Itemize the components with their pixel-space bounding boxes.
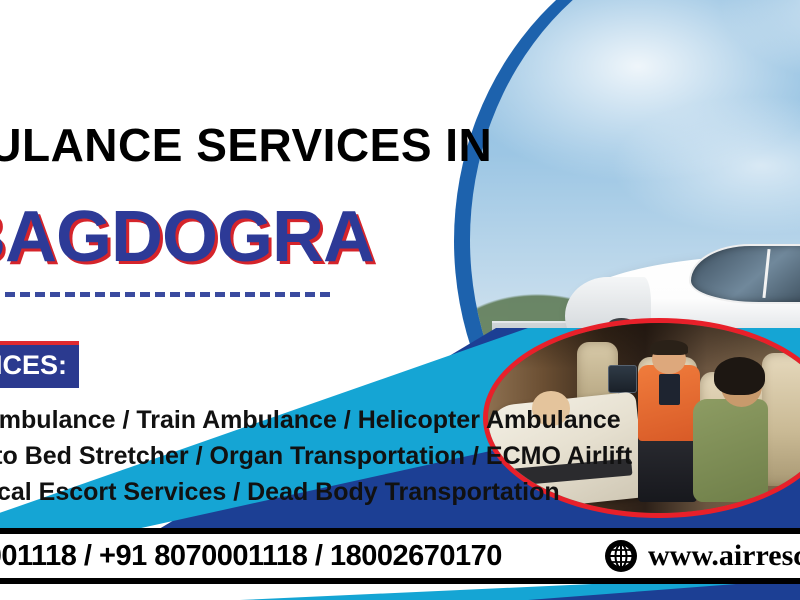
air-ambulance-promo-banner: AMBULANCE SERVICES IN BAGDOGRA SERVICES:… (0, 0, 800, 600)
dashed-divider (0, 292, 330, 297)
service-line: Bed to Bed Stretcher / Organ Transportat… (0, 438, 632, 474)
medic-lanyard (659, 374, 680, 404)
globe-icon (604, 539, 638, 573)
phone-numbers[interactable]: +91 9870001118 / +91 8070001118 / 180026… (0, 540, 502, 573)
service-line: Medical Escort Services / Dead Body Tran… (0, 474, 632, 510)
jet-cockpit-windshield (689, 244, 800, 304)
attendant-hair (714, 357, 765, 395)
contact-bar: +91 9870001118 / +91 8070001118 / 180026… (0, 534, 800, 578)
services-badge: SERVICES: (0, 341, 79, 388)
service-line: Air Ambulance / Train Ambulance / Helico… (0, 402, 632, 438)
contact-bar-bottom-rule (0, 578, 800, 584)
medical-monitor (608, 365, 637, 394)
city-name: BAGDOGRA (0, 196, 374, 278)
headline-ambulance-services-in: AMBULANCE SERVICES IN (0, 118, 492, 172)
services-list: Air Ambulance / Train Ambulance / Helico… (0, 402, 632, 510)
medic-hair (650, 340, 688, 355)
website-url[interactable]: www.airrescuers.com (648, 539, 800, 573)
attendant-torso (693, 399, 768, 502)
medic-legs (638, 433, 696, 501)
